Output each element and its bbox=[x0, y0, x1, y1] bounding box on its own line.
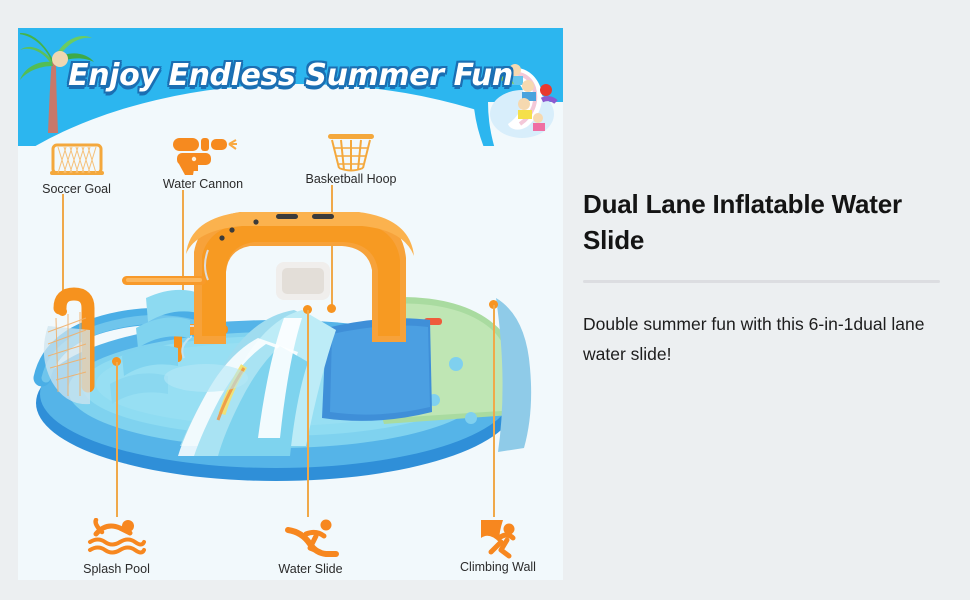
product-image bbox=[26, 178, 556, 508]
feature-label: Water Slide bbox=[258, 562, 363, 576]
water-cannon-icon bbox=[144, 133, 262, 177]
connector-water-slide bbox=[307, 310, 309, 517]
product-feature-page: Enjoy Endless Summer Fun Soccer Goal bbox=[0, 0, 970, 600]
water-slide-icon bbox=[258, 518, 363, 562]
feature-label: Splash Pool bbox=[64, 562, 169, 576]
product-description: Double summer fun with this 6-in-1dual l… bbox=[583, 309, 945, 369]
product-title: Dual Lane Inflatable Water Slide bbox=[583, 186, 945, 258]
feature-splash-pool[interactable]: Splash Pool bbox=[64, 518, 169, 576]
connector-splash-pool bbox=[116, 362, 118, 517]
climbing-wall-icon bbox=[443, 516, 553, 560]
soccer-goal-icon bbox=[24, 138, 129, 182]
product-info-panel: Dual Lane Inflatable Water Slide Double … bbox=[583, 186, 945, 369]
feature-climbing-wall[interactable]: Climbing Wall bbox=[443, 516, 553, 574]
divider bbox=[583, 280, 940, 283]
kids-on-slide-sticker bbox=[480, 56, 560, 140]
palm-tree-icon bbox=[20, 28, 106, 138]
feature-label: Climbing Wall bbox=[443, 560, 553, 574]
basketball-hoop-icon bbox=[286, 128, 416, 172]
feature-water-slide[interactable]: Water Slide bbox=[258, 518, 363, 576]
infographic-card: Enjoy Endless Summer Fun Soccer Goal bbox=[18, 28, 563, 580]
swimmer-icon bbox=[64, 518, 169, 562]
connector-climbing-wall bbox=[493, 305, 495, 517]
